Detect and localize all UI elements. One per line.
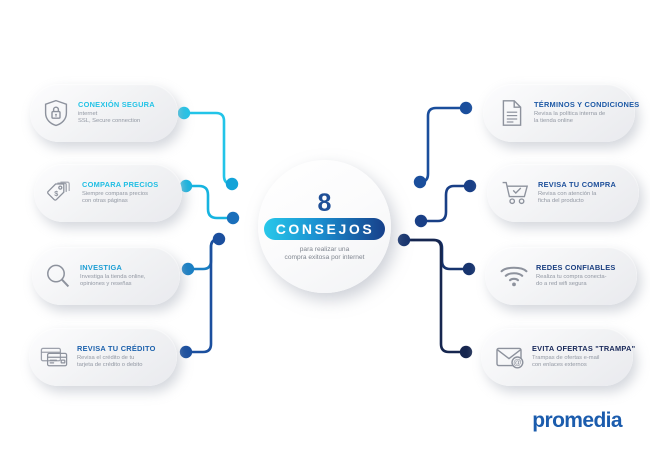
dot-revisa-credito-outer	[180, 346, 192, 358]
card-desc-line: Realiza tu compra conecta-	[536, 274, 627, 281]
dot-conexion-segura-inner	[226, 178, 238, 190]
card-title: INVESTIGA	[80, 263, 172, 272]
card-evita-ofertas[interactable]: @ EVITA OFERTAS "TRAMPA" Trampas de ofer…	[481, 328, 633, 386]
svg-text:@: @	[513, 357, 522, 367]
card-desc-line: con enlaces externos	[532, 362, 623, 369]
card-desc-line: do a red wifi segura	[536, 281, 627, 288]
dot-investiga-outer	[182, 263, 194, 275]
card-description: Revisa con atención la ficha del product…	[538, 191, 629, 206]
dot-revisa-compra-inner	[415, 215, 427, 227]
center-subtitle-line: compra exitosa por internet	[285, 254, 365, 262]
card-title: REDES CONFIABLES	[536, 263, 627, 272]
card-revisa-credito[interactable]: REVISA TU CRÉDITO Revisa el crédito de t…	[29, 328, 177, 386]
magnifier-icon	[43, 261, 73, 291]
card-text: EVITA OFERTAS "TRAMPA" Trampas de oferta…	[532, 344, 623, 369]
connector-path-revisa-credito	[186, 239, 219, 352]
card-text: REDES CONFIABLES Realiza tu compra conec…	[536, 263, 627, 288]
card-title: COMPARA PRECIOS	[82, 180, 174, 189]
dot-redes-confiables-inner	[398, 234, 410, 246]
dot-terminos-condiciones-inner	[414, 176, 426, 188]
card-desc-line: SSL, Secure connection	[78, 118, 170, 125]
dot-investiga-inner	[213, 233, 225, 245]
card-desc-line: ficha del producto	[538, 198, 629, 205]
card-title: TÉRMINOS Y CONDICIONES	[534, 100, 625, 109]
card-desc-line: tarjeta de crédito o debito	[77, 362, 169, 369]
card-text: REVISA TU CRÉDITO Revisa el crédito de t…	[77, 344, 169, 369]
connector-path-revisa-compra	[421, 186, 470, 221]
card-desc-line: con otras páginas	[82, 198, 174, 205]
infographic-canvas: CONEXIÓN SEGURA internet SSL, Secure con…	[0, 0, 650, 459]
center-ribbon: CONSEJOS	[264, 218, 386, 240]
dot-revisa-compra-outer	[464, 180, 476, 192]
credit-cards-icon	[40, 342, 70, 372]
card-description: Revisa el crédito de tu tarjeta de crédi…	[77, 355, 169, 370]
card-description: internet SSL, Secure connection	[78, 111, 170, 126]
price-tags-icon: $	[45, 178, 75, 208]
dot-terminos-condiciones-outer	[460, 102, 472, 114]
dot-evita-ofertas-outer	[460, 346, 472, 358]
card-desc-line: la tienda online	[534, 118, 625, 125]
shield-lock-icon	[41, 98, 71, 128]
svg-text:$: $	[54, 189, 58, 198]
card-title: REVISA TU CRÉDITO	[77, 344, 169, 353]
card-redes-confiables[interactable]: REDES CONFIABLES Realiza tu compra conec…	[485, 247, 637, 305]
card-desc-line: Revisa con atención la	[538, 191, 629, 198]
card-terminos-condiciones[interactable]: TÉRMINOS Y CONDICIONES Revisa la polític…	[483, 84, 635, 142]
card-description: Investiga la tienda online, opiniones y …	[80, 274, 172, 289]
wifi-icon	[499, 261, 529, 291]
card-conexion-segura[interactable]: CONEXIÓN SEGURA internet SSL, Secure con…	[30, 84, 178, 142]
card-description: Revisa la política interna de la tienda …	[534, 111, 625, 126]
center-number: 8	[318, 191, 332, 216]
connector-path-evita-ofertas	[404, 240, 466, 352]
email-at-icon: @	[495, 342, 525, 372]
card-text: INVESTIGA Investiga la tienda online, op…	[80, 263, 172, 288]
card-title: REVISA TU COMPRA	[538, 180, 629, 189]
connector-path-compara-precios	[186, 186, 233, 218]
card-desc-line: Revisa el crédito de tu	[77, 355, 169, 362]
card-compara-precios[interactable]: $ COMPARA PRECIOS Siempre compara precio…	[34, 164, 182, 222]
connector-path-redes-confiables	[404, 240, 469, 269]
card-desc-line: Siempre compara precios	[82, 191, 174, 198]
center-ribbon-label: CONSEJOS	[276, 222, 375, 236]
connector-path-terminos-condiciones	[420, 108, 466, 182]
card-title: CONEXIÓN SEGURA	[78, 100, 170, 109]
connector-path-investiga	[188, 239, 219, 269]
connector-path-conexion-segura	[184, 113, 232, 184]
dot-redes-confiables-outer	[463, 263, 475, 275]
card-title: EVITA OFERTAS "TRAMPA"	[532, 344, 623, 353]
shopping-cart-check-icon	[501, 178, 531, 208]
center-badge: 8 CONSEJOS para realizar una compra exit…	[258, 160, 391, 293]
dot-conexion-segura-outer	[178, 107, 190, 119]
card-desc-line: Revisa la política interna de	[534, 111, 625, 118]
card-desc-line: Trampas de ofertas e-mail	[532, 355, 623, 362]
card-desc-line: opiniones y reseñas	[80, 281, 172, 288]
card-text: TÉRMINOS Y CONDICIONES Revisa la polític…	[534, 100, 625, 125]
document-icon	[497, 98, 527, 128]
promedia-logo: promedia	[532, 410, 622, 431]
card-revisa-compra[interactable]: REVISA TU COMPRA Revisa con atención la …	[487, 164, 639, 222]
card-description: Siempre compara precios con otras página…	[82, 191, 174, 206]
card-text: REVISA TU COMPRA Revisa con atención la …	[538, 180, 629, 205]
center-subtitle: para realizar una compra exitosa por int…	[285, 246, 365, 263]
card-text: COMPARA PRECIOS Siempre compara precios …	[82, 180, 174, 205]
card-text: CONEXIÓN SEGURA internet SSL, Secure con…	[78, 100, 170, 125]
card-desc-line: Investiga la tienda online,	[80, 274, 172, 281]
center-subtitle-line: para realizar una	[285, 246, 365, 254]
card-desc-line: internet	[78, 111, 170, 118]
card-investiga[interactable]: INVESTIGA Investiga la tienda online, op…	[32, 247, 180, 305]
dot-compara-precios-inner	[227, 212, 239, 224]
card-description: Trampas de ofertas e-mail con enlaces ex…	[532, 355, 623, 370]
card-description: Realiza tu compra conecta- do a red wifi…	[536, 274, 627, 289]
